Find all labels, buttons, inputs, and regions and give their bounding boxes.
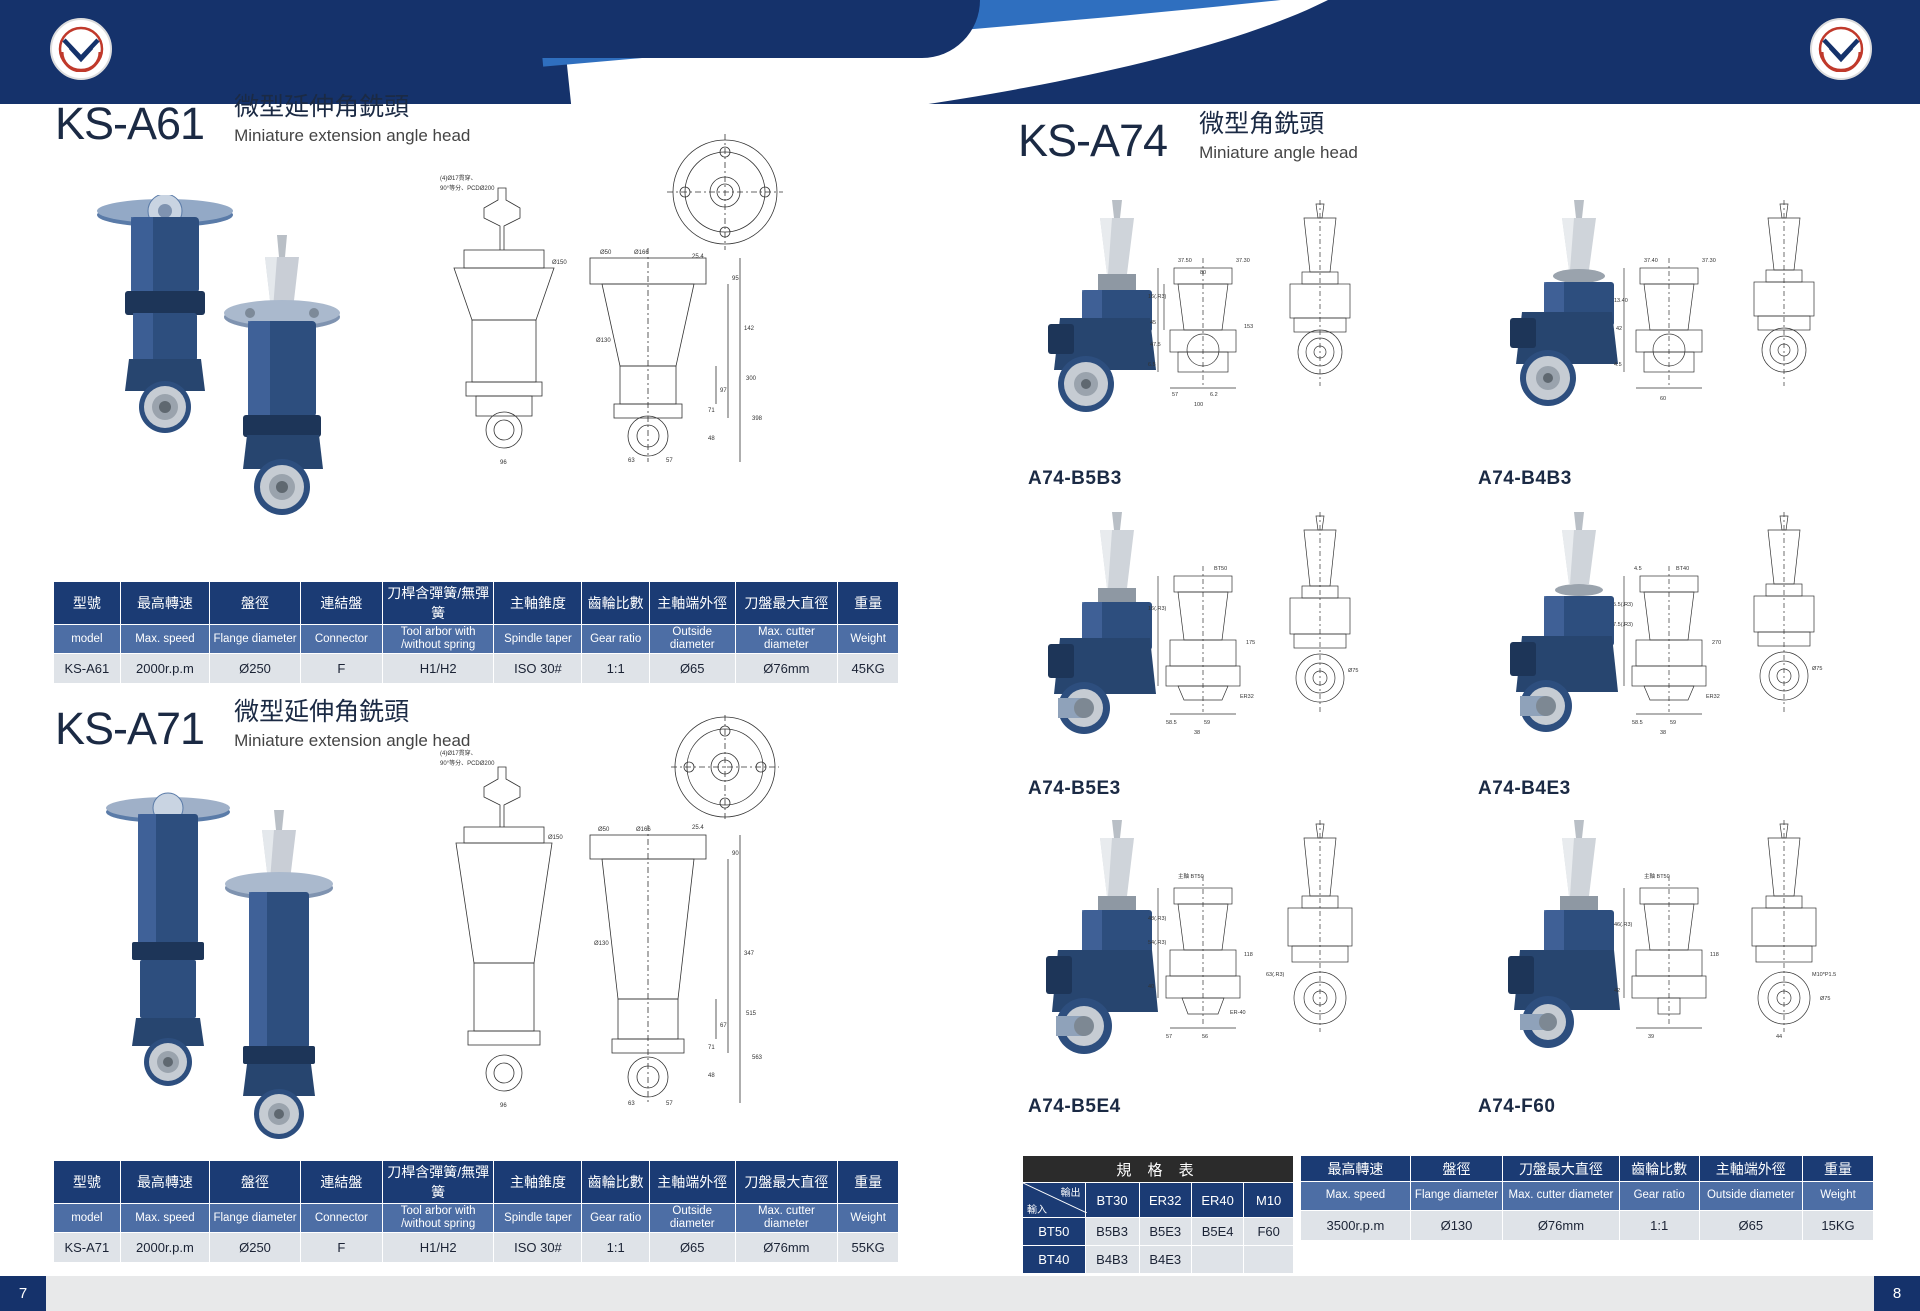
- logo-mark-icon: [58, 26, 104, 72]
- svg-text:96: 96: [500, 460, 507, 466]
- spec-table-header-cn-row: 型號 最高轉速 盤徑 連結盤 刀桿含彈簧/無彈簧 主軸錐度 齒輪比數 主軸端外徑…: [54, 582, 899, 625]
- product-heading-ks-a71: KS-A71 微型延伸角銑頭 Miniature extension angle…: [55, 700, 470, 751]
- svg-text:Ø50: Ø50: [600, 250, 612, 256]
- th-cn-maxspeed: 最高轉速: [1301, 1156, 1411, 1182]
- cell-b4e3: B4E3: [1139, 1246, 1191, 1274]
- th-cn-outside: 主軸端外徑: [1699, 1156, 1802, 1182]
- th-en-model: model: [54, 625, 121, 654]
- th-cn-toolarbor: 刀桿含彈簧/無彈簧: [382, 1161, 494, 1204]
- svg-text:BT50: BT50: [1214, 566, 1227, 572]
- svg-text:90°等分、PCDØ200: 90°等分、PCDØ200: [440, 184, 495, 192]
- th-cn-cutter: 刀盤最大直徑: [735, 1161, 838, 1204]
- svg-text:15.5(.R3): 15.5(.R3): [1614, 602, 1633, 608]
- technical-drawing-a74-b4e3-b: Ø75: [1728, 512, 1838, 742]
- table-row: BT40 B4B3 B4E3: [1023, 1246, 1294, 1274]
- svg-text:Ø75: Ø75: [1348, 668, 1358, 674]
- th-en-cutter: Max. cutter diameter: [735, 1204, 838, 1233]
- cell-flange: Ø250: [210, 1233, 301, 1263]
- svg-text:ER-40: ER-40: [1230, 1010, 1246, 1016]
- svg-text:Ø75: Ø75: [1812, 666, 1822, 672]
- svg-text:300: 300: [746, 376, 757, 382]
- svg-text:39: 39: [1648, 1034, 1654, 1040]
- cell-toolarbor: H1/H2: [382, 654, 494, 684]
- svg-text:563: 563: [752, 1055, 763, 1061]
- th-en-connector: Connector: [300, 1204, 382, 1233]
- th-cn-taper: 主軸錐度: [494, 582, 582, 625]
- th-cn-gearratio: 齒輪比數: [582, 1161, 649, 1204]
- th-en-connector: Connector: [300, 625, 382, 654]
- company-logo-left: [50, 18, 112, 80]
- spec-table-header-en-row: model Max. speed Flange diameter Connect…: [54, 1204, 899, 1233]
- th-en-maxspeed: Max. speed: [120, 625, 209, 654]
- table-row: KS-A61 2000r.p.m Ø250 F H1/H2 ISO 30# 1:…: [54, 654, 899, 684]
- cell-model: KS-A71: [54, 1233, 121, 1263]
- svg-text:67: 67: [720, 1023, 727, 1029]
- cell-gearratio: 1:1: [582, 654, 649, 684]
- cell-flange: Ø130: [1410, 1211, 1502, 1241]
- technical-drawing-a74-b5e4-a: 主軸 BT50 48(.R3)54(.R3) 5756 ER-4040 118: [1148, 856, 1268, 1056]
- svg-text:38: 38: [1194, 730, 1200, 736]
- svg-text:56: 56: [1202, 1034, 1208, 1040]
- technical-drawing-a74-b4e3-a: BT404.5 15.5(.R3)27.5(.R3) 58.559 ER3238…: [1614, 548, 1734, 738]
- svg-text:(4)Ø17貫穿、: (4)Ø17貫穿、: [440, 174, 477, 182]
- cell-outside: Ø65: [1699, 1211, 1802, 1241]
- product-title-en-ks-a71: Miniature extension angle head: [234, 732, 470, 749]
- svg-text:主軸 BT50: 主軸 BT50: [1644, 872, 1670, 880]
- cell-weight: 45KG: [838, 654, 899, 684]
- th-en-taper: Spindle taper: [494, 1204, 582, 1233]
- technical-drawing-a74-b4b3-a: 37.40 13.4042 4.560 37.30: [1614, 238, 1734, 418]
- spec-grid-header-row: 輸出 輸入 BT30 ER32 ER40 M10: [1023, 1183, 1294, 1218]
- th-en-outside: Outside diameter: [649, 1204, 735, 1233]
- cell-model: KS-A61: [54, 654, 121, 684]
- th-en-gearratio: Gear ratio: [1619, 1182, 1699, 1211]
- th-en-maxspeed: Max. speed: [1301, 1182, 1411, 1211]
- spec-grid-row-bt50: BT50: [1023, 1218, 1086, 1246]
- th-cn-flange: 盤徑: [1410, 1156, 1502, 1182]
- spec-grid-col-m10: M10: [1244, 1183, 1294, 1218]
- technical-drawing-a74-b5e3-a: BT50 16(.R3) 58.559 ER3238 175: [1148, 548, 1268, 738]
- cell-maxspeed: 2000r.p.m: [120, 1233, 209, 1263]
- svg-text:Ø166: Ø166: [634, 250, 649, 256]
- svg-text:38: 38: [1660, 730, 1666, 736]
- svg-text:59: 59: [1670, 720, 1676, 726]
- table-row: BT50 B5B3 B5E3 B5E4 F60: [1023, 1218, 1294, 1246]
- th-cn-model: 型號: [54, 1161, 121, 1204]
- th-en-flange: Flange diameter: [1410, 1182, 1502, 1211]
- product-title-cn-ks-a74: 微型角銑頭: [1199, 112, 1358, 137]
- svg-text:6.5: 6.5: [1148, 362, 1156, 368]
- th-cn-cutter: 刀盤最大直徑: [1503, 1156, 1620, 1182]
- svg-text:142: 142: [744, 326, 755, 332]
- svg-text:BT40: BT40: [1676, 566, 1689, 572]
- page-number-left: 7: [0, 1276, 46, 1311]
- th-en-cutter: Max. cutter diameter: [735, 625, 838, 654]
- svg-text:63: 63: [628, 1101, 635, 1107]
- th-cn-weight: 重量: [838, 1161, 899, 1204]
- svg-text:47.5: 47.5: [1150, 342, 1161, 348]
- product-title-en-ks-a74: Miniature angle head: [1199, 144, 1358, 161]
- svg-text:Ø50: Ø50: [598, 827, 610, 833]
- technical-drawing-ks-a71: (4)Ø17貫穿、 90°等分、PCDØ200 25.4 BT 50 Ø150 …: [440, 715, 840, 1115]
- spec-table-ks-a74: 最高轉速 盤徑 刀盤最大直徑 齒輪比數 主軸端外徑 重量 Max. speed …: [1300, 1155, 1874, 1241]
- variant-label-a74-b5e4: A74-B5E4: [1028, 1096, 1121, 1118]
- cell-f60: F60: [1244, 1218, 1294, 1246]
- th-cn-gearratio: 齒輪比數: [582, 582, 649, 625]
- svg-text:44: 44: [1776, 1034, 1782, 1040]
- product-title-cn-ks-a61: 微型延伸角銑頭: [234, 95, 470, 120]
- th-en-flange: Flange diameter: [210, 625, 301, 654]
- svg-text:M10*P1.5: M10*P1.5: [1812, 972, 1836, 978]
- svg-text:153: 153: [1244, 324, 1253, 330]
- page-number-right: 8: [1874, 1276, 1920, 1311]
- th-en-taper: Spindle taper: [494, 625, 582, 654]
- svg-text:270: 270: [1712, 640, 1721, 646]
- svg-text:(4)Ø17貫穿、: (4)Ø17貫穿、: [440, 749, 477, 757]
- product-title-en-ks-a61: Miniature extension angle head: [234, 127, 470, 144]
- svg-text:59: 59: [1204, 720, 1210, 726]
- th-cn-maxspeed: 最高轉速: [120, 1161, 209, 1204]
- th-cn-toolarbor: 刀桿含彈簧/無彈簧: [382, 582, 494, 625]
- technical-drawing-a74-b4b3-b: [1728, 200, 1838, 420]
- th-cn-model: 型號: [54, 582, 121, 625]
- svg-text:42: 42: [1614, 988, 1620, 994]
- th-en-gearratio: Gear ratio: [582, 1204, 649, 1233]
- spec-grid-title: 規 格 表: [1023, 1156, 1294, 1183]
- svg-text:4.5: 4.5: [1634, 566, 1642, 572]
- technical-drawing-ks-a61: (4)Ø17貫穿、 90°等分、PCDØ200 25.4 BT 50 Ø150 …: [440, 130, 840, 470]
- cell-outside: Ø65: [649, 654, 735, 684]
- product-heading-ks-a74: KS-A74 微型角銑頭 Miniature angle head: [1018, 112, 1358, 163]
- svg-text:13.40: 13.40: [1614, 298, 1628, 304]
- svg-text:97: 97: [720, 388, 727, 394]
- svg-text:71: 71: [708, 408, 715, 414]
- company-logo-right: [1810, 18, 1872, 80]
- spec-grid-col-er40: ER40: [1191, 1183, 1243, 1218]
- svg-text:175: 175: [1246, 640, 1255, 646]
- svg-text:57: 57: [666, 458, 673, 464]
- th-cn-outside: 主軸端外徑: [649, 582, 735, 625]
- th-cn-weight: 重量: [838, 582, 899, 625]
- svg-text:100: 100: [1194, 402, 1203, 408]
- svg-text:90°等分、PCDØ200: 90°等分、PCDØ200: [440, 759, 495, 767]
- svg-text:ER32: ER32: [1706, 694, 1720, 700]
- cell-cutter: Ø76mm: [1503, 1211, 1620, 1241]
- svg-text:Ø130: Ø130: [596, 338, 611, 344]
- svg-text:71: 71: [708, 1045, 715, 1051]
- th-en-flange: Flange diameter: [210, 1204, 301, 1233]
- spec-grid-title-row: 規 格 表: [1023, 1156, 1294, 1183]
- spec-grid-row-bt40: BT40: [1023, 1246, 1086, 1274]
- svg-text:42: 42: [1616, 326, 1622, 332]
- page-banner: [0, 0, 1920, 104]
- spec-table-header-en-row: model Max. speed Flange diameter Connect…: [54, 625, 899, 654]
- svg-text:48(.R3): 48(.R3): [1148, 916, 1167, 922]
- product-code-ks-a61: KS-A61: [55, 101, 204, 146]
- svg-text:主軸 BT50: 主軸 BT50: [1178, 872, 1204, 880]
- svg-text:Ø75: Ø75: [1820, 996, 1830, 1002]
- technical-drawing-a74-f60-b: M10*P1.5 Ø75 44: [1728, 820, 1858, 1060]
- th-en-weight: Weight: [838, 1204, 899, 1233]
- svg-text:60: 60: [1660, 396, 1666, 402]
- cell-toolarbor: H1/H2: [382, 1233, 494, 1263]
- cell-gearratio: 1:1: [582, 1233, 649, 1263]
- svg-text:Ø166: Ø166: [636, 827, 651, 833]
- svg-text:95: 95: [732, 276, 739, 282]
- svg-text:57: 57: [666, 1101, 673, 1107]
- th-en-weight: Weight: [838, 625, 899, 654]
- svg-text:37.40: 37.40: [1644, 258, 1658, 264]
- th-cn-outside: 主軸端外徑: [649, 1161, 735, 1204]
- spec-table-header-en-row: Max. speed Flange diameter Max. cutter d…: [1301, 1182, 1874, 1211]
- cell-b5b3: B5B3: [1085, 1218, 1139, 1246]
- cell-blank-1: [1191, 1246, 1243, 1274]
- th-cn-weight: 重量: [1803, 1156, 1874, 1182]
- th-en-outside: Outside diameter: [1699, 1182, 1802, 1211]
- spec-table-ks-a71: 型號 最高轉速 盤徑 連結盤 刀桿含彈簧/無彈簧 主軸錐度 齒輪比數 主軸端外徑…: [53, 1160, 899, 1263]
- spec-grid-a74: 規 格 表 輸出 輸入 BT30 ER32 ER40 M10 BT50 B5B3…: [1022, 1155, 1294, 1274]
- product-heading-ks-a61: KS-A61 微型延伸角銑頭 Miniature extension angle…: [55, 95, 470, 146]
- technical-drawing-a74-b5e4-b: 63(.R3): [1264, 820, 1374, 1060]
- variant-label-a74-b5e3: A74-B5E3: [1028, 778, 1121, 800]
- spec-grid-corner-out: 輸出: [1061, 1184, 1081, 1199]
- technical-drawing-a74-b5b3-a: 37.5080 16(.R3)45 47.56.5 576.2 100153 3…: [1148, 238, 1268, 418]
- cell-weight: 55KG: [838, 1233, 899, 1263]
- variant-label-a74-b5b3: A74-B5B3: [1028, 468, 1122, 490]
- svg-text:25.4: 25.4: [692, 254, 704, 260]
- svg-text:37.30: 37.30: [1236, 258, 1250, 264]
- cell-maxspeed: 2000r.p.m: [120, 654, 209, 684]
- svg-text:57: 57: [1172, 392, 1178, 398]
- svg-text:90: 90: [732, 851, 739, 857]
- svg-text:515: 515: [746, 1011, 757, 1017]
- svg-text:96: 96: [500, 1103, 507, 1109]
- svg-text:37.30: 37.30: [1702, 258, 1716, 264]
- cell-cutter: Ø76mm: [735, 1233, 838, 1263]
- th-cn-flange: 盤徑: [210, 582, 301, 625]
- variant-label-a74-f60: A74-F60: [1478, 1096, 1555, 1118]
- product-title-cn-ks-a71: 微型延伸角銑頭: [234, 700, 470, 725]
- product-code-ks-a71: KS-A71: [55, 706, 204, 751]
- th-cn-connector: 連結盤: [300, 1161, 382, 1204]
- spec-grid-corner-in: 輸入: [1027, 1201, 1047, 1216]
- cell-weight: 15KG: [1803, 1211, 1874, 1241]
- th-en-gearratio: Gear ratio: [582, 625, 649, 654]
- svg-text:48: 48: [708, 1073, 715, 1079]
- cell-outside: Ø65: [649, 1233, 735, 1263]
- svg-text:ER32: ER32: [1240, 694, 1254, 700]
- spec-table-header-cn-row: 型號 最高轉速 盤徑 連結盤 刀桿含彈簧/無彈簧 主軸錐度 齒輪比數 主軸端外徑…: [54, 1161, 899, 1204]
- svg-text:57: 57: [1166, 1034, 1172, 1040]
- svg-text:6.2: 6.2: [1210, 392, 1218, 398]
- banner-navy-left-block: [0, 0, 980, 58]
- svg-text:46(.R3): 46(.R3): [1614, 922, 1633, 928]
- cell-b5e4: B5E4: [1191, 1218, 1243, 1246]
- cell-blank-2: [1244, 1246, 1294, 1274]
- cell-flange: Ø250: [210, 654, 301, 684]
- th-cn-gearratio: 齒輪比數: [1619, 1156, 1699, 1182]
- svg-text:40: 40: [1148, 984, 1154, 990]
- cell-gearratio: 1:1: [1619, 1211, 1699, 1241]
- variant-label-a74-b4b3: A74-B4B3: [1478, 468, 1572, 490]
- svg-text:4.5: 4.5: [1614, 362, 1622, 368]
- technical-drawing-a74-b5e3-b: Ø75: [1264, 512, 1374, 742]
- table-row: KS-A71 2000r.p.m Ø250 F H1/H2 ISO 30# 1:…: [54, 1233, 899, 1263]
- svg-text:398: 398: [752, 416, 763, 422]
- svg-text:63(.R3): 63(.R3): [1266, 972, 1285, 978]
- product-code-ks-a74: KS-A74: [1018, 118, 1167, 163]
- th-cn-flange: 盤徑: [210, 1161, 301, 1204]
- svg-text:80: 80: [1200, 270, 1206, 276]
- cell-connector: F: [300, 654, 382, 684]
- svg-text:118: 118: [1244, 952, 1253, 958]
- spec-grid-col-er32: ER32: [1139, 1183, 1191, 1218]
- svg-text:16(.R3): 16(.R3): [1148, 294, 1167, 300]
- th-en-cutter: Max. cutter diameter: [1503, 1182, 1620, 1211]
- svg-text:347: 347: [744, 951, 755, 957]
- svg-text:25.4: 25.4: [692, 825, 704, 831]
- svg-text:37.50: 37.50: [1178, 258, 1192, 264]
- cell-cutter: Ø76mm: [735, 654, 838, 684]
- svg-text:48: 48: [708, 436, 715, 442]
- table-row: 3500r.p.m Ø130 Ø76mm 1:1 Ø65 15KG: [1301, 1211, 1874, 1241]
- spec-table-ks-a61: 型號 最高轉速 盤徑 連結盤 刀桿含彈簧/無彈簧 主軸錐度 齒輪比數 主軸端外徑…: [53, 581, 899, 684]
- cell-connector: F: [300, 1233, 382, 1263]
- th-en-toolarbor: Tool arbor with /without spring: [382, 1204, 494, 1233]
- th-en-model: model: [54, 1204, 121, 1233]
- th-en-weight: Weight: [1803, 1182, 1874, 1211]
- th-cn-cutter: 刀盤最大直徑: [735, 582, 838, 625]
- svg-text:58.5: 58.5: [1632, 720, 1643, 726]
- spec-table-header-cn-row: 最高轉速 盤徑 刀盤最大直徑 齒輪比數 主軸端外徑 重量: [1301, 1156, 1874, 1182]
- technical-drawing-a74-f60-a: 主軸 BT50 46(.R3) 4239 118: [1614, 856, 1734, 1056]
- th-en-toolarbor: Tool arbor with /without spring: [382, 625, 494, 654]
- svg-text:16(.R3): 16(.R3): [1148, 606, 1167, 612]
- svg-text:27.5(.R3): 27.5(.R3): [1614, 622, 1633, 628]
- technical-drawing-a74-b5b3-b: [1264, 200, 1374, 420]
- th-en-outside: Outside diameter: [649, 625, 735, 654]
- footer-bar-left: [0, 1276, 960, 1311]
- svg-text:63: 63: [628, 458, 635, 464]
- cell-b5e3: B5E3: [1139, 1218, 1191, 1246]
- spec-grid-col-bt30: BT30: [1085, 1183, 1139, 1218]
- logo-mark-icon: [1818, 26, 1864, 72]
- th-cn-connector: 連結盤: [300, 582, 382, 625]
- svg-text:45: 45: [1150, 320, 1156, 326]
- svg-text:58.5: 58.5: [1166, 720, 1177, 726]
- th-cn-maxspeed: 最高轉速: [120, 582, 209, 625]
- footer-bar-right: [960, 1276, 1920, 1311]
- th-cn-taper: 主軸錐度: [494, 1161, 582, 1204]
- th-en-maxspeed: Max. speed: [120, 1204, 209, 1233]
- svg-text:Ø130: Ø130: [594, 941, 609, 947]
- svg-text:54(.R3): 54(.R3): [1148, 940, 1167, 946]
- svg-text:118: 118: [1710, 952, 1719, 958]
- cell-b4b3: B4B3: [1085, 1246, 1139, 1274]
- cell-maxspeed: 3500r.p.m: [1301, 1211, 1411, 1241]
- svg-text:Ø150: Ø150: [548, 835, 563, 841]
- cell-taper: ISO 30#: [494, 1233, 582, 1263]
- spec-grid-corner: 輸出 輸入: [1023, 1183, 1086, 1218]
- variant-label-a74-b4e3: A74-B4E3: [1478, 778, 1571, 800]
- cell-taper: ISO 30#: [494, 654, 582, 684]
- svg-text:Ø150: Ø150: [552, 260, 567, 266]
